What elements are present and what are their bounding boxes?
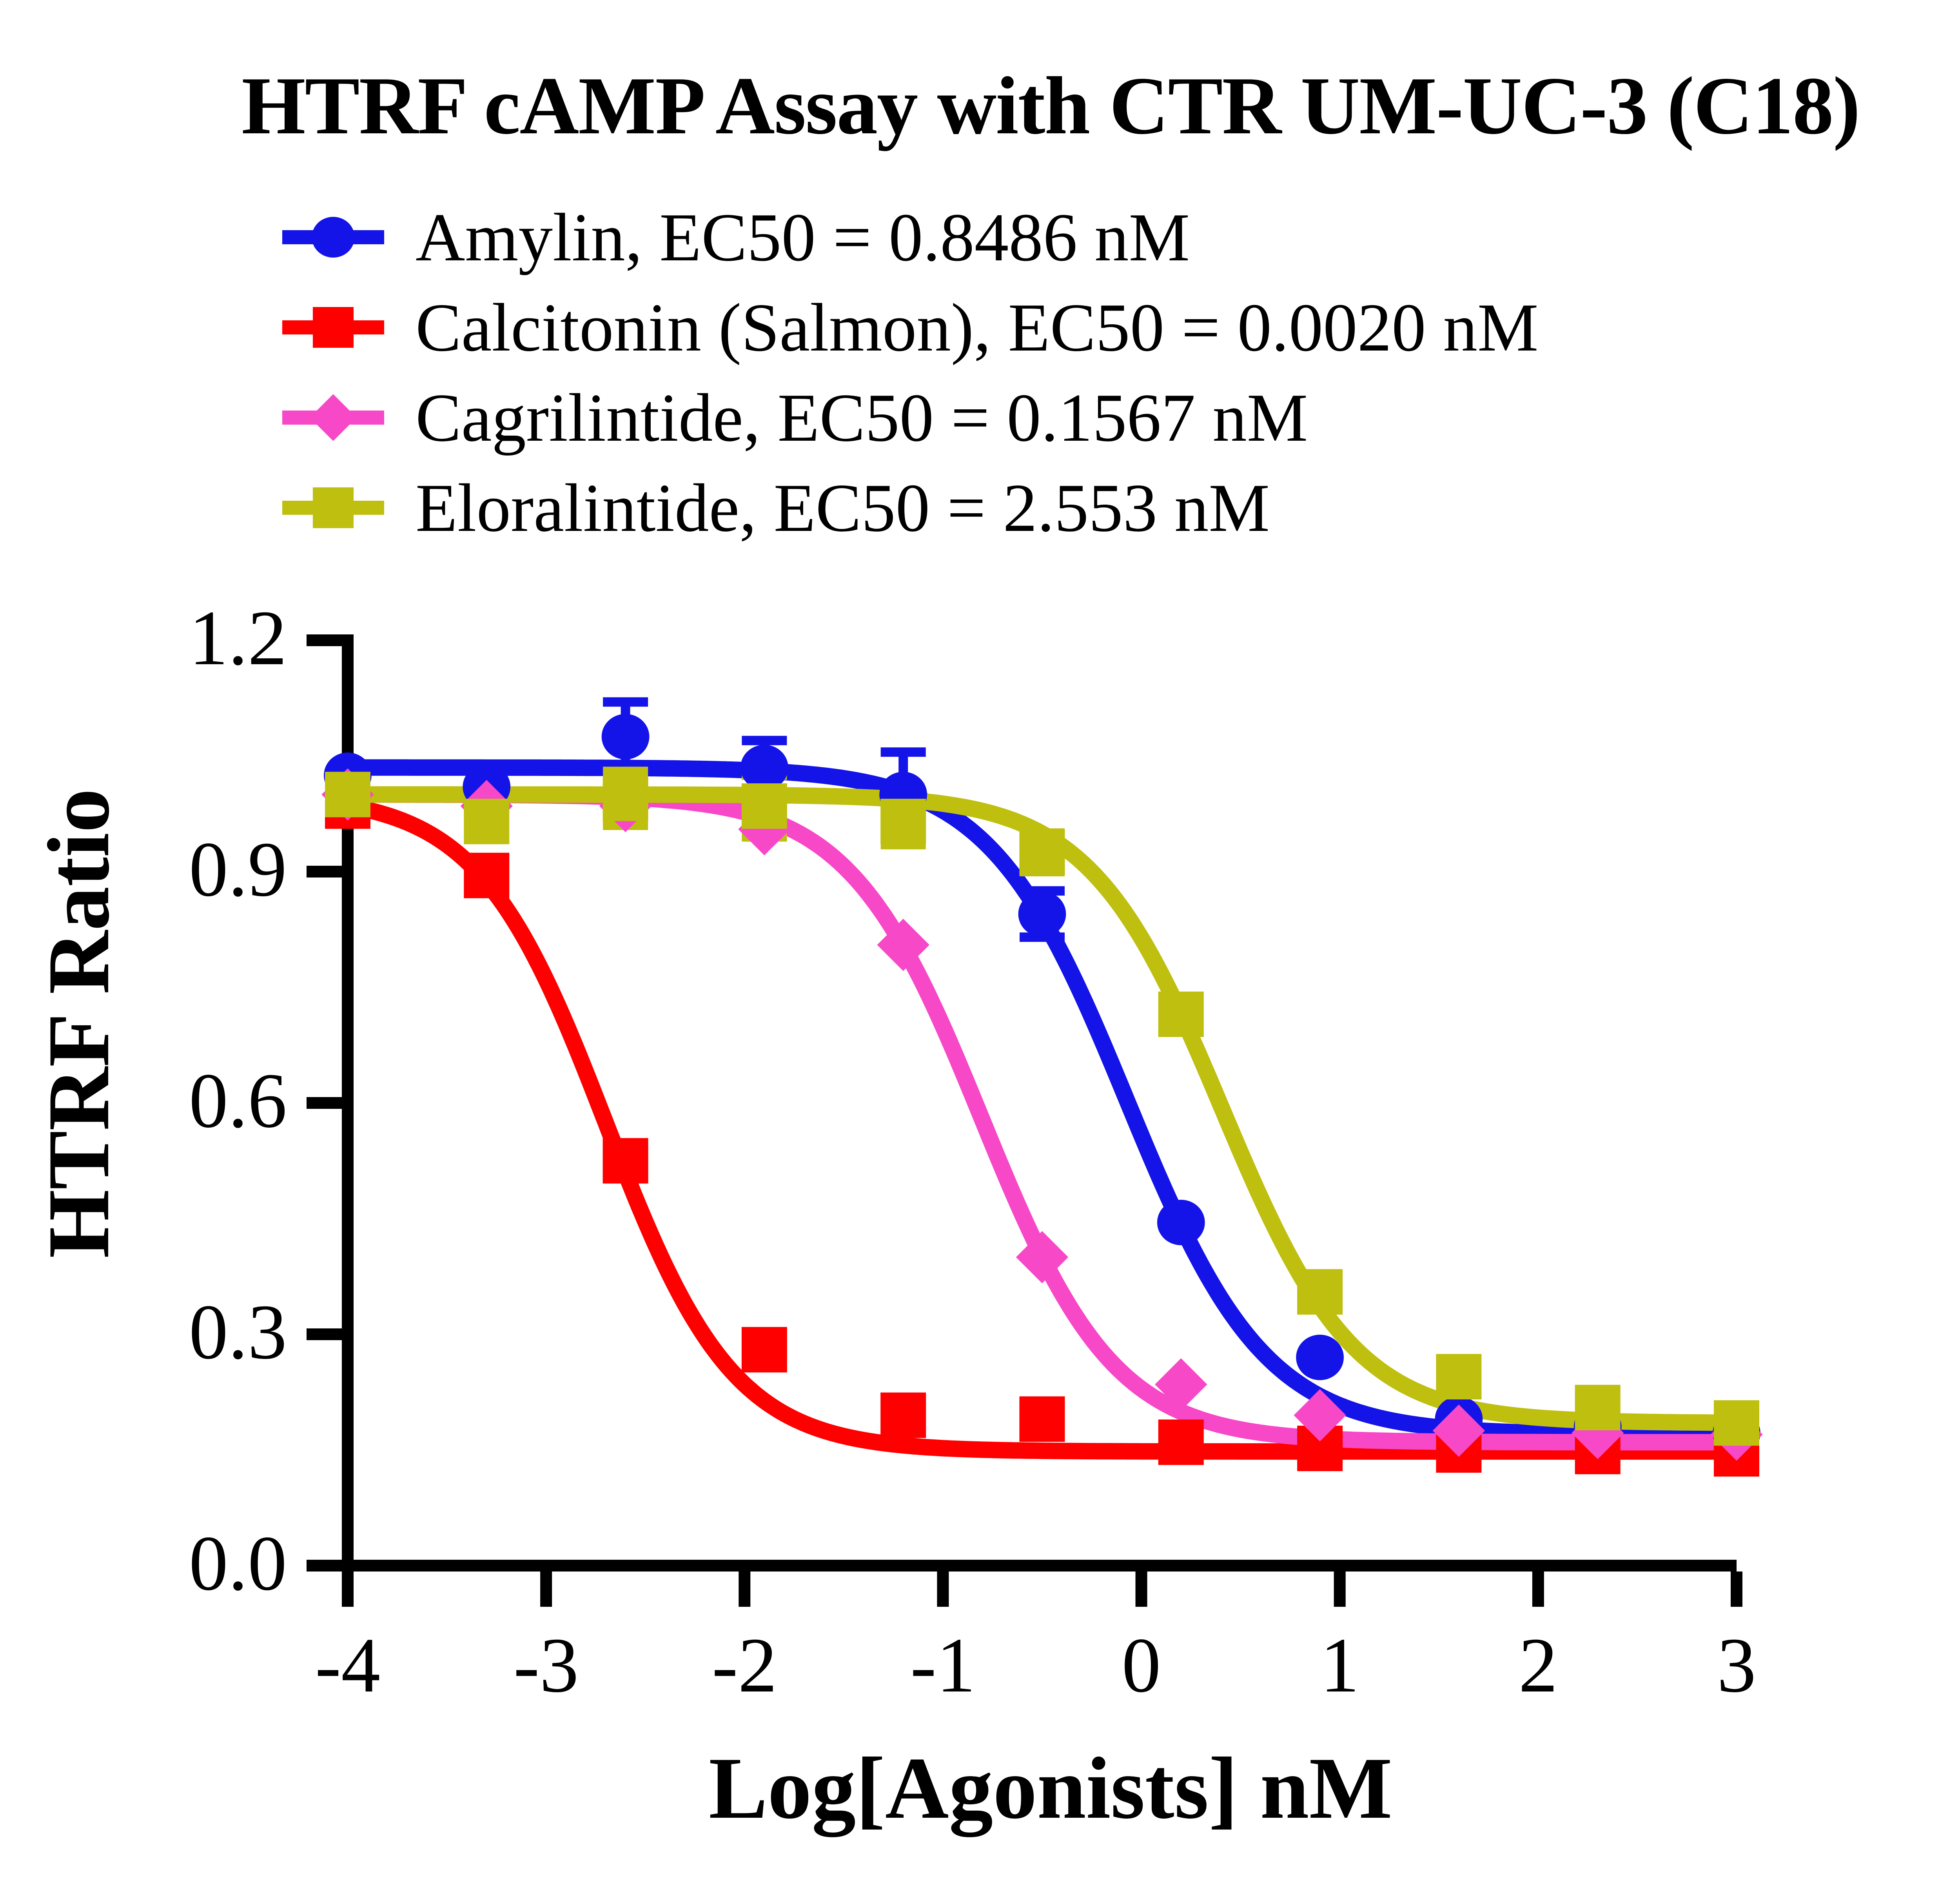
- y-axis-label: HTRF Ratio: [27, 670, 129, 1376]
- series-markers-eloralintide: [325, 772, 1759, 1446]
- y-axis-tick: [307, 866, 342, 878]
- error-bar-cap: [881, 747, 926, 757]
- x-axis-tick: [342, 1572, 354, 1607]
- y-axis-tick: [307, 1328, 342, 1340]
- x-axis-tick-label: -3: [448, 1621, 644, 1710]
- x-axis-tick-label: 3: [1639, 1621, 1835, 1710]
- y-axis-tick: [307, 1560, 342, 1572]
- error-bar-cap: [603, 697, 648, 707]
- y-axis-tick: [307, 634, 342, 646]
- x-axis-tick: [1136, 1572, 1147, 1607]
- x-axis-tick: [1334, 1572, 1346, 1607]
- x-axis-tick: [739, 1572, 750, 1607]
- x-axis-tick: [1731, 1572, 1742, 1607]
- x-axis-tick-label: 2: [1440, 1621, 1636, 1710]
- x-axis-tick-label: -1: [845, 1621, 1041, 1710]
- x-axis-tick-label: 1: [1242, 1621, 1438, 1710]
- x-axis-tick: [540, 1572, 552, 1607]
- error-bar-cap: [742, 736, 787, 745]
- x-axis-tick: [937, 1572, 949, 1607]
- chart-figure: HTRF cAMP Assay with CTR UM-UC-3 (C18) A…: [0, 0, 1960, 1904]
- x-axis-tick-label: 0: [1044, 1621, 1240, 1710]
- x-axis-label: Log[Agonists] nM: [0, 1737, 1960, 1839]
- plot-area: 0.00.30.60.91.2-4-3-2-10123: [0, 0, 1960, 1904]
- x-axis-line: [342, 1560, 1737, 1572]
- x-axis-tick-label: -4: [250, 1621, 446, 1710]
- y-axis-tick-label: 0.0: [0, 1519, 287, 1608]
- x-axis-tick-label: -2: [646, 1621, 842, 1710]
- y-axis-tick-label: 1.2: [0, 593, 287, 683]
- x-axis-tick: [1532, 1572, 1544, 1607]
- y-axis-tick: [307, 1097, 342, 1109]
- error-bar-cap: [603, 767, 648, 776]
